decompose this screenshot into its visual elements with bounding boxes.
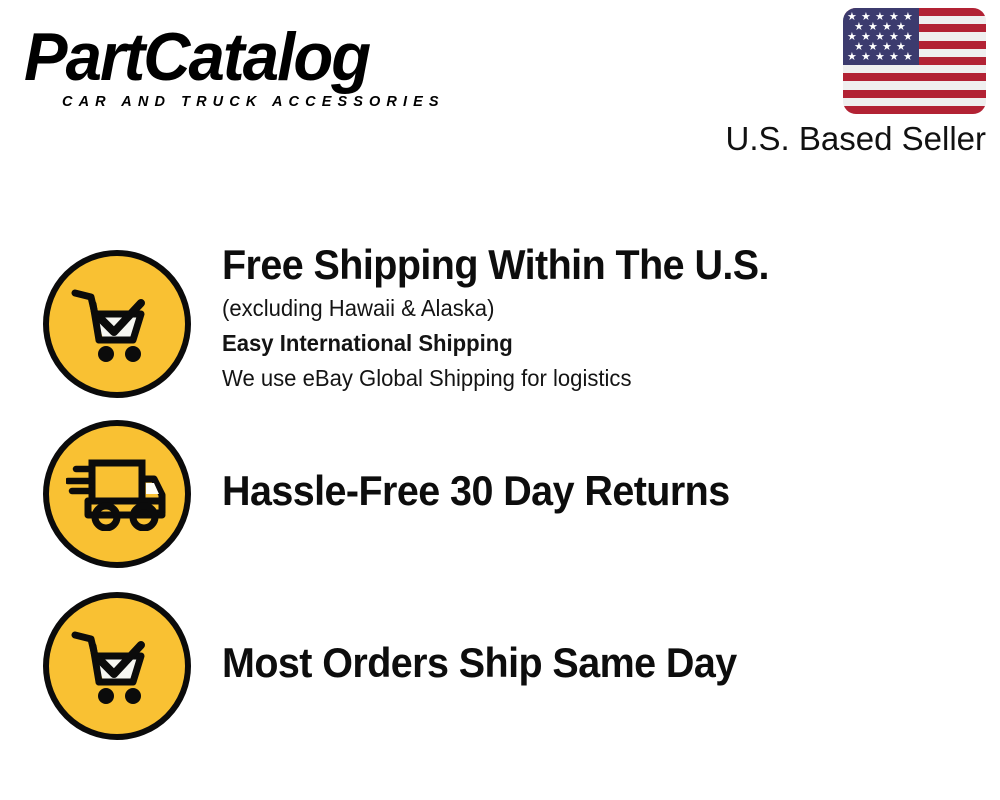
flag-stripe xyxy=(843,98,986,106)
feature-title: Most Orders Ship Same Day xyxy=(222,638,936,688)
delivery-truck-icon xyxy=(43,420,191,568)
feature-text-block: Most Orders Ship Same Day xyxy=(222,638,982,688)
partcatalog-logo: PartCatalog CAR AND TRUCK ACCESSORIES xyxy=(24,22,494,114)
feature-text-block: Hassle-Free 30 Day Returns xyxy=(222,466,982,516)
feature-text-block: Free Shipping Within The U.S. (excluding… xyxy=(222,240,982,395)
shopping-cart-check-icon xyxy=(43,592,191,740)
promo-banner: PartCatalog CAR AND TRUCK ACCESSORIES ★ xyxy=(0,0,1000,800)
us-based-seller-badge: ★ ★ ★ ★ ★ ★ ★ ★ ★ ★ ★ ★ ★ ★ ★ ★ ★ xyxy=(716,8,986,158)
banner-header: PartCatalog CAR AND TRUCK ACCESSORIES ★ xyxy=(0,0,1000,175)
flag-stripe xyxy=(843,73,986,81)
us-flag-icon: ★ ★ ★ ★ ★ ★ ★ ★ ★ ★ ★ ★ ★ ★ ★ ★ ★ xyxy=(843,8,986,114)
flag-canton: ★ ★ ★ ★ ★ ★ ★ ★ ★ ★ ★ ★ ★ ★ ★ ★ ★ xyxy=(843,8,919,65)
flag-stripe xyxy=(843,106,986,114)
feature-subtitle-exclusions: (excluding Hawaii & Alaska) xyxy=(222,292,952,325)
us-based-seller-label: U.S. Based Seller xyxy=(716,120,986,158)
shopping-cart-check-icon xyxy=(43,250,191,398)
flag-stripe xyxy=(843,65,986,73)
feature-title: Hassle-Free 30 Day Returns xyxy=(222,466,936,516)
feature-subtitle-logistics: We use eBay Global Shipping for logistic… xyxy=(222,362,952,395)
feature-subtitle-international: Easy International Shipping xyxy=(222,327,952,360)
brand-wordmark: PartCatalog xyxy=(24,22,475,92)
feature-title: Free Shipping Within The U.S. xyxy=(222,240,936,290)
flag-stripe xyxy=(843,90,986,98)
flag-stripe xyxy=(843,81,986,89)
brand-tagline: CAR AND TRUCK ACCESSORIES xyxy=(62,94,494,110)
